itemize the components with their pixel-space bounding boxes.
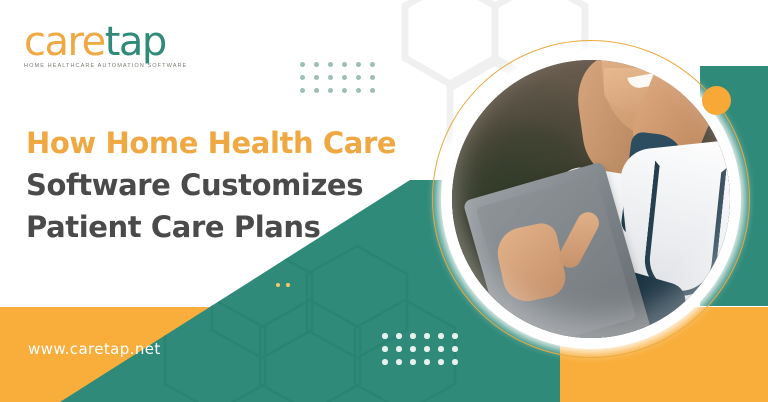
logo-word-tap: tap: [105, 19, 166, 65]
headline-line-3: Patient Care Plans: [26, 206, 446, 248]
dot-grid-top: [300, 62, 384, 101]
banner-canvas: caretap HOME HEALTHCARE AUTOMATION SOFTW…: [0, 0, 768, 402]
photo-image: [452, 60, 730, 338]
mini-dot-pair: [276, 283, 290, 287]
caretap-logo[interactable]: caretap HOME HEALTHCARE AUTOMATION SOFTW…: [24, 22, 204, 69]
stethoscope-chestpiece: [710, 288, 724, 302]
logo-word-care: care: [24, 19, 105, 65]
hero-photo: [432, 40, 750, 358]
logo-tagline: HOME HEALTHCARE AUTOMATION SOFTWARE: [24, 63, 204, 69]
headline-line-1: How Home Health Care: [26, 122, 446, 164]
logo-wordmark: caretap: [24, 22, 204, 62]
website-url[interactable]: www.caretap.net: [28, 340, 161, 358]
headline-block: How Home Health Care Software Customizes…: [26, 122, 446, 248]
accent-circle: [702, 86, 731, 115]
headline-line-2: Software Customizes: [26, 164, 446, 206]
